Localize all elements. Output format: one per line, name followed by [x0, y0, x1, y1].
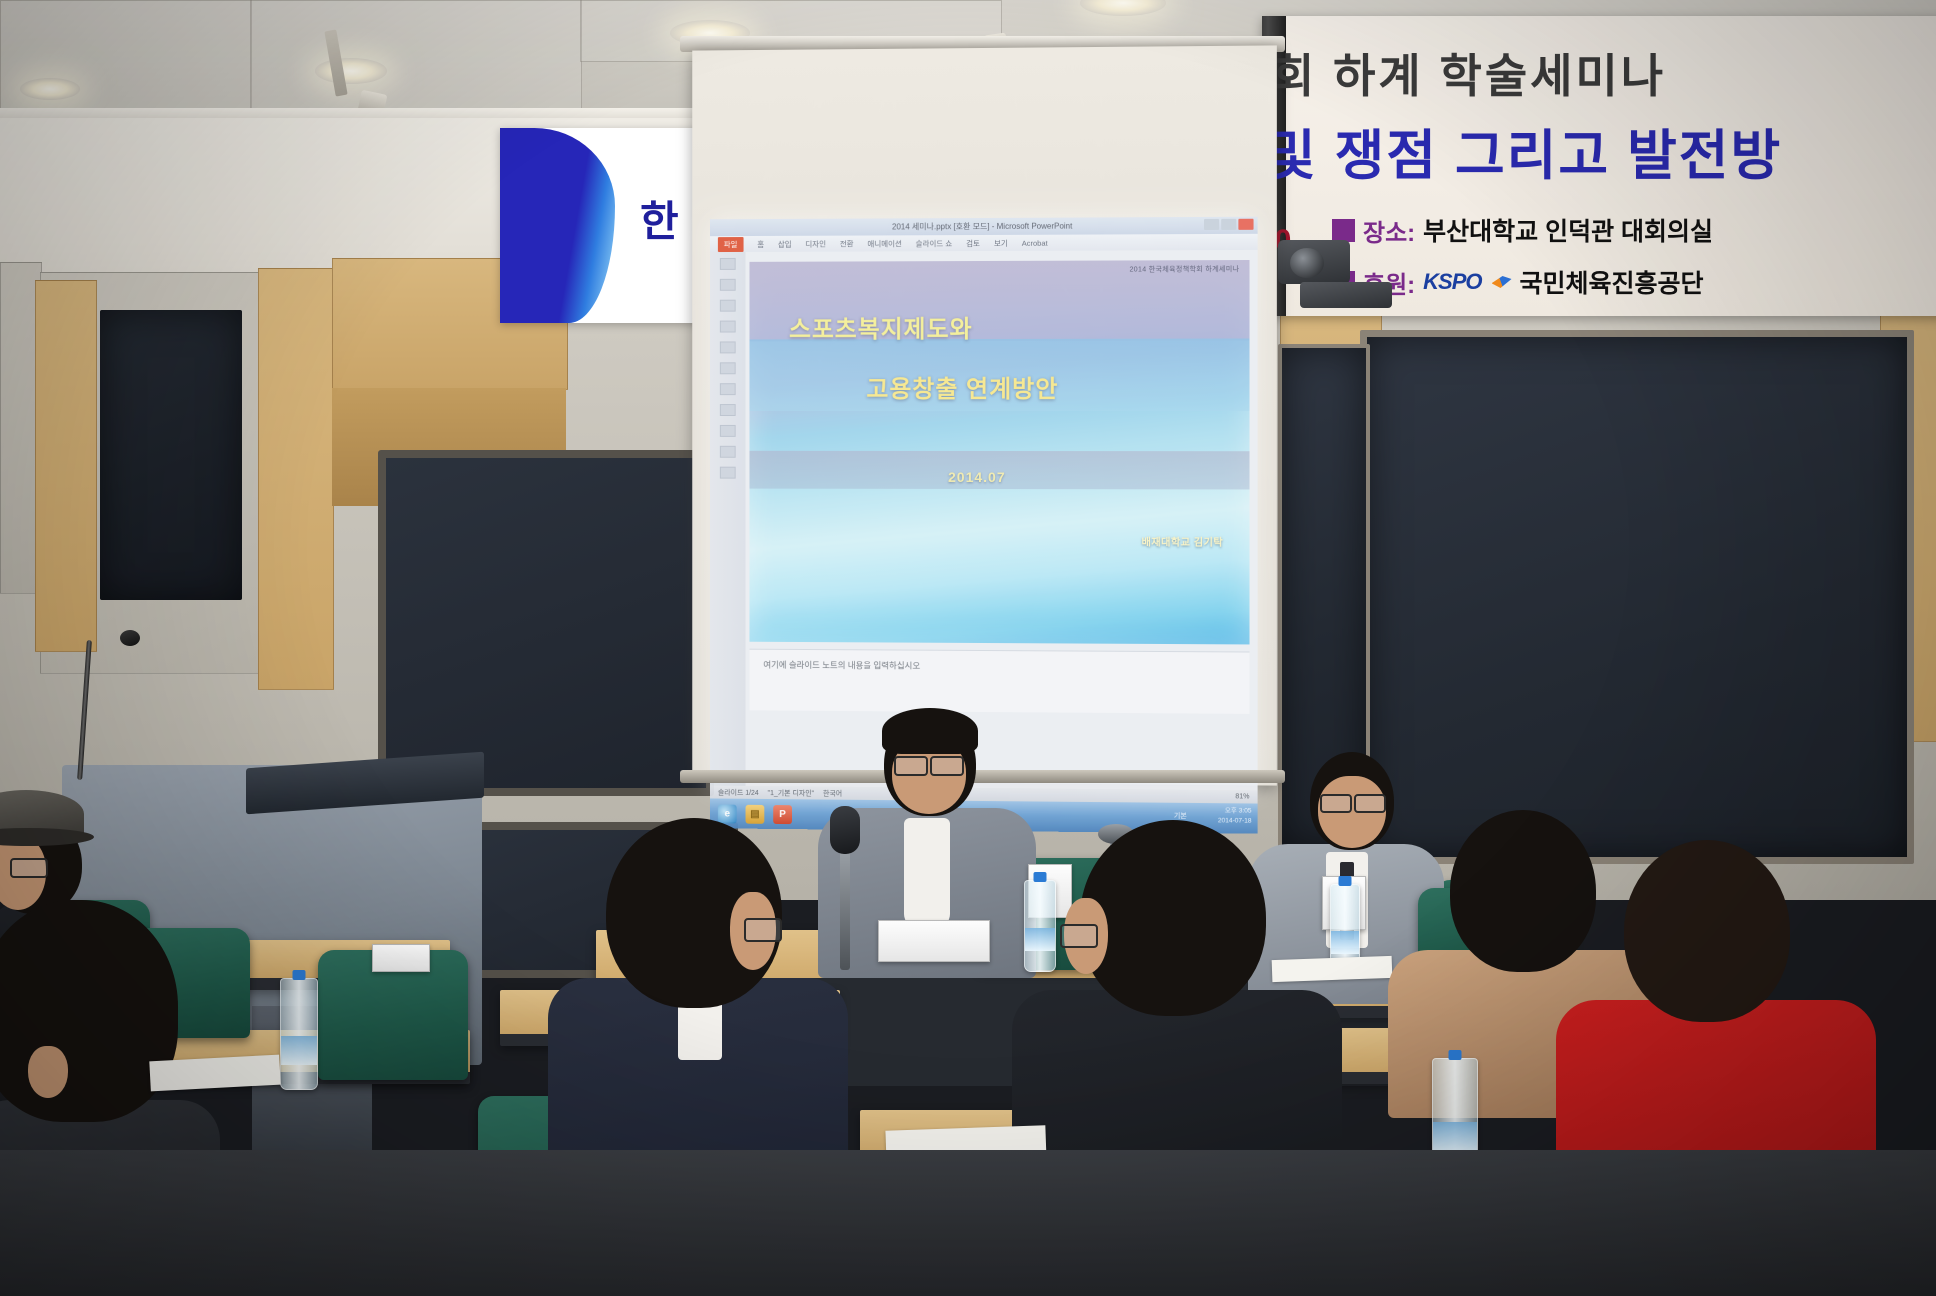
slide-title-line1: 스포츠복지제도와	[789, 309, 973, 344]
seminar-room-photo: 한 회 하계 학술세미나 및 쟁점 그리고 발전방 00 장소: 부산대학교 인…	[0, 0, 1936, 1296]
maximize-icon[interactable]	[1221, 219, 1236, 230]
banner-left-text: 한	[640, 188, 679, 249]
banner-venue-label: 장소:	[1363, 213, 1415, 248]
slide-author: 배재대학교 김기탁	[1142, 533, 1224, 548]
panelist-glasses	[1320, 794, 1352, 813]
panelist-glasses	[1354, 794, 1386, 813]
kspo-logo-text: KSPO	[1423, 269, 1481, 295]
slide-title-line2: 고용창출 연계방안	[866, 369, 1058, 404]
close-icon[interactable]	[1238, 219, 1253, 230]
speaker-hair	[882, 708, 978, 754]
audience-red-head	[1624, 840, 1790, 1022]
slide-thumbnail[interactable]	[720, 279, 736, 291]
slide-thumbnail[interactable]	[720, 467, 736, 479]
powerpoint-window[interactable]: 2014 세미나.pptx [호환 모드] - Microsoft PowerP…	[710, 217, 1258, 791]
banner-left-wave-graphic	[500, 128, 615, 323]
ceiling-light	[315, 58, 387, 84]
slide-thumbnail[interactable]	[720, 362, 736, 374]
bullet-square-icon	[1332, 219, 1355, 242]
audience-hat-glasses	[10, 858, 48, 878]
water-bottle[interactable]	[280, 978, 318, 1090]
audience-center-right-head	[1080, 820, 1266, 1016]
window-controls[interactable]	[1204, 219, 1254, 230]
tab-animations[interactable]: 애니메이션	[867, 238, 901, 249]
tab-insert[interactable]: 삽입	[778, 238, 792, 249]
tab-view[interactable]: 보기	[994, 237, 1008, 248]
ceiling-panel	[250, 0, 582, 110]
bottle-cap	[293, 970, 306, 980]
speaker-glasses	[930, 756, 964, 776]
audience-foreground-ear	[28, 1046, 68, 1098]
minimize-icon[interactable]	[1204, 219, 1219, 230]
projection-screen: 2014 세미나.pptx [호환 모드] - Microsoft PowerP…	[692, 45, 1277, 785]
tab-home[interactable]: 홈	[757, 238, 764, 249]
tab-transitions[interactable]: 전환	[840, 238, 854, 249]
slide-thumbnail[interactable]	[720, 300, 736, 312]
nameplate	[878, 920, 990, 962]
slide-thumbnail[interactable]	[720, 258, 736, 270]
kspo-swoosh-icon	[1492, 276, 1512, 288]
slide-thumbnail[interactable]	[720, 446, 736, 458]
tab-slideshow[interactable]: 슬라이드 쇼	[916, 238, 952, 249]
current-slide[interactable]: 2014 한국체육정책학회 하계세미나 스포츠복지제도와 고용창출 연계방안 2…	[749, 260, 1249, 644]
slide-notes-placeholder[interactable]: 여기에 슬라이드 노트의 내용을 입력하십시오	[749, 649, 1249, 714]
slide-thumbnail[interactable]	[720, 341, 736, 353]
wood-wall-panel	[258, 268, 334, 690]
wood-wall-panel	[35, 280, 97, 652]
banner-left: 한	[500, 128, 700, 323]
bottle-label	[281, 1036, 317, 1065]
speaker-shirt	[904, 818, 950, 928]
tab-review[interactable]: 검토	[966, 238, 980, 249]
slide-date: 2014.07	[948, 469, 1006, 485]
tab-design[interactable]: 디자인	[805, 238, 826, 249]
slide-thumbnail-pane[interactable]	[710, 252, 746, 786]
banner-venue-value: 부산대학교 인덕관 대회의실	[1423, 212, 1713, 248]
nameplate	[372, 944, 430, 972]
wall-dark-panel-left	[100, 310, 242, 600]
lectern-microphone-head	[120, 630, 140, 646]
ceiling-camera-mount	[1300, 282, 1392, 308]
slide-thumbnail[interactable]	[720, 321, 736, 333]
speaker-glasses	[894, 756, 928, 776]
banner-title-line1: 회 하계 학술세미나	[1272, 40, 1666, 106]
powerpoint-title-text: 2014 세미나.pptx [호환 모드] - Microsoft PowerP…	[892, 221, 1072, 233]
audience-center-glasses	[744, 918, 782, 942]
tab-file[interactable]: 파일	[718, 237, 743, 252]
ceiling-light	[20, 78, 80, 100]
wall-display-left	[378, 450, 714, 796]
slide-theme-name: "1_기본 디자인"	[768, 788, 814, 798]
bottle-cap	[1449, 1050, 1462, 1060]
audience-center-right-glasses	[1060, 924, 1098, 948]
banner-sponsor-value: 국민체육진흥공단	[1520, 264, 1704, 300]
fedora-hat-brim	[0, 828, 94, 846]
slide-thumbnail[interactable]	[720, 383, 736, 395]
slide-editing-stage: 2014 한국체육정책학회 하계세미나 스포츠복지제도와 고용창출 연계방안 2…	[746, 250, 1258, 791]
banner-venue-row: 장소: 부산대학교 인덕관 대회의실	[1332, 212, 1713, 248]
tab-acrobat[interactable]: Acrobat	[1022, 238, 1048, 247]
floor	[0, 1150, 1936, 1296]
ceiling-camera-lens	[1290, 248, 1324, 278]
powerpoint-workspace: 2014 한국체육정책학회 하계세미나 스포츠복지제도와 고용창출 연계방안 2…	[710, 250, 1258, 791]
slide-counter: 슬라이드 1/24	[718, 787, 759, 797]
slide-header-text: 2014 한국체육정책학회 하계세미나	[1130, 264, 1240, 274]
slide-thumbnail[interactable]	[720, 404, 736, 416]
banner-right: 회 하계 학술세미나 및 쟁점 그리고 발전방 00 장소: 부산대학교 인덕관…	[1262, 16, 1936, 316]
ceiling-panel	[0, 0, 252, 120]
slide-thumbnail[interactable]	[720, 425, 736, 437]
banner-title-line2: 및 쟁점 그리고 발전방	[1266, 111, 1782, 190]
